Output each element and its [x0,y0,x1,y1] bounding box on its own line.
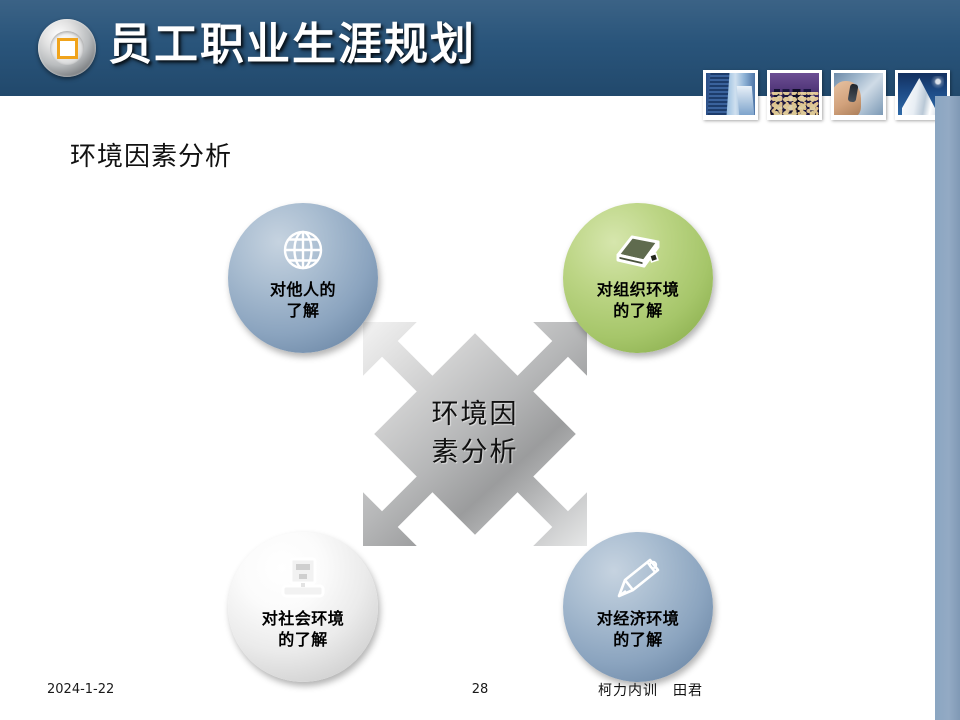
diagram-center-arrow-cross: 环境因 素分析 [363,322,587,546]
diagram-node-top-left[interactable]: 对他人的 了解 [228,203,378,353]
globe-icon [276,225,330,275]
diagram-center-label: 环境因 素分析 [432,396,519,472]
diagram-node-label: 对经济环境 的了解 [597,608,680,650]
diagram-node-top-right[interactable]: 对组织环境 的了解 [563,203,713,353]
diagram-node-bottom-right[interactable]: 对经济环境 的了解 [563,532,713,682]
computer-icon [276,554,330,604]
diagram-node-label: 对他人的 了解 [270,279,336,321]
presentation-slide: 员工职业生涯规划 环境因素分析 环境因 素分析 [0,0,960,720]
environment-factor-diagram: 环境因 素分析 对他人的 了解 [0,0,960,720]
book-icon [611,225,665,275]
footer-author: 柯力内训 田君 [598,680,703,700]
diagram-node-bottom-left[interactable]: 对社会环境 的了解 [228,532,378,682]
diagram-node-label: 对组织环境 的了解 [597,279,680,321]
pencil-icon [611,554,665,604]
footer-page-number: 28 [0,682,960,697]
diagram-node-label: 对社会环境 的了解 [262,608,345,650]
